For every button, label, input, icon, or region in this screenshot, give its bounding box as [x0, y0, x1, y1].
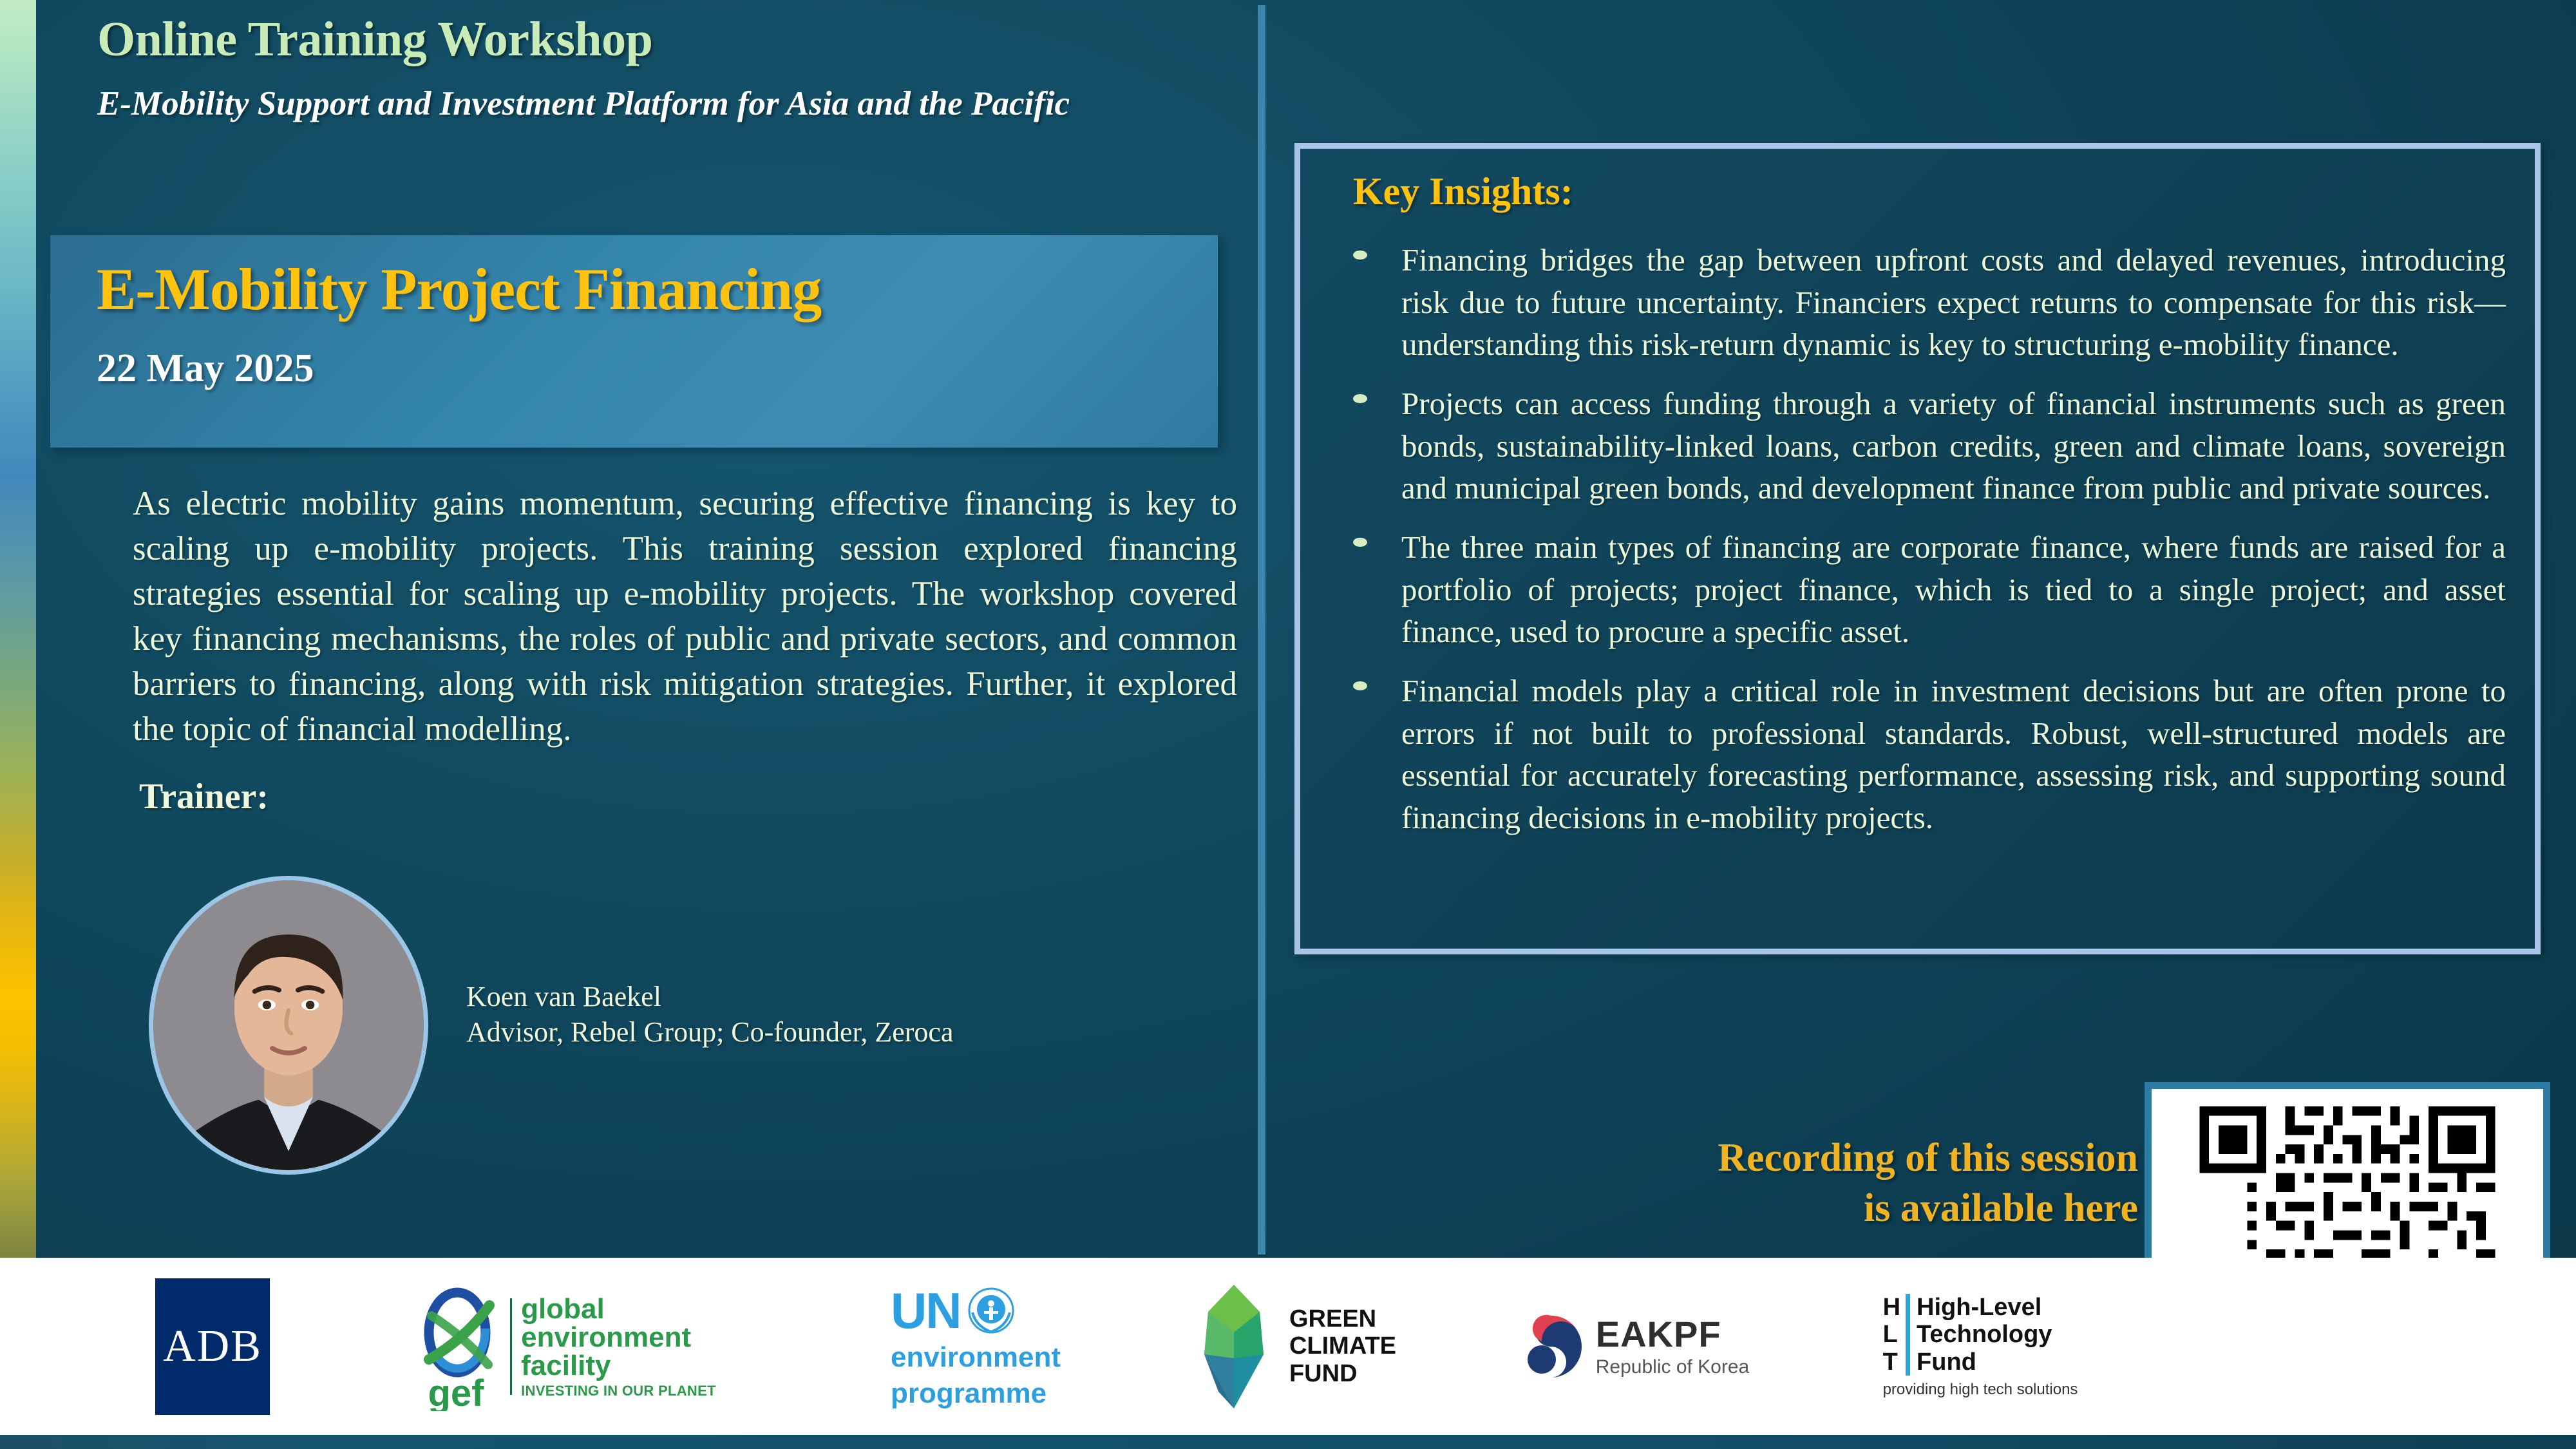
hlt-line-2: Technology — [1917, 1321, 2052, 1349]
trainer-role: Advisor, Rebel Group; Co-founder, Zeroca — [466, 1012, 954, 1052]
eakpf-wordmark: EAKPF Republic of Korea — [1596, 1315, 1749, 1378]
workshop-subtitle: E-Mobility Support and Investment Platfo… — [97, 84, 1205, 124]
logo-eakpf: EAKPF Republic of Korea — [1494, 1258, 1771, 1435]
trainer-label: Trainer: — [139, 776, 269, 817]
workshop-kicker: Online Training Workshop — [97, 14, 652, 66]
gef-line-2: environment — [521, 1323, 716, 1352]
unep-line-2: programme — [891, 1379, 1061, 1408]
gef-line-1: global — [521, 1295, 716, 1323]
left-gradient-strip — [0, 0, 36, 1258]
column-divider — [1258, 5, 1265, 1255]
list-item: Financing bridges the gap between upfron… — [1334, 239, 2506, 366]
korea-taeguk-icon — [1516, 1312, 1586, 1381]
partner-logo-bar: ADB gef global environment facility INVE… — [0, 1258, 2576, 1435]
gef-tagline: INVESTING IN OUR PLANET — [521, 1384, 716, 1398]
gef-wordmark: global environment facility INVESTING IN… — [521, 1295, 716, 1398]
recording-callout: Recording of this session is available h… — [1533, 1133, 2138, 1233]
bullet-icon — [1353, 394, 1367, 403]
left-column: Online Training Workshop E-Mobility Supp… — [36, 0, 1258, 1258]
bullet-icon — [1353, 538, 1367, 547]
list-item: Projects can access funding through a va… — [1334, 383, 2506, 509]
list-item: The three main types of financing are co… — [1334, 526, 2506, 653]
logo-gef: gef global environment facility INVESTIN… — [412, 1258, 721, 1435]
hlt-initial-2: L — [1883, 1321, 1900, 1349]
session-description: As electric mobility gains momentum, sec… — [133, 482, 1237, 752]
gcf-line-1: GREEN — [1289, 1305, 1396, 1333]
eakpf-subtitle: Republic of Korea — [1596, 1357, 1749, 1378]
bullet-icon — [1353, 681, 1367, 690]
title-banner: E-Mobility Project Financing 22 May 2025 — [50, 235, 1218, 448]
trainer-name: Koen van Baekel — [466, 977, 661, 1017]
gcf-wordmark: GREEN CLIMATE FUND — [1289, 1305, 1396, 1388]
un-emblem-icon — [967, 1287, 1015, 1334]
hlt-wordmark: High-Level Technology Fund — [1917, 1294, 2052, 1376]
recording-line-2: is available here — [1864, 1186, 2138, 1230]
hlt-tagline: providing high tech solutions — [1883, 1381, 2078, 1399]
avatar — [149, 876, 428, 1175]
list-item-text: Financing bridges the gap between upfron… — [1401, 242, 2506, 362]
logo-adb: ADB — [116, 1258, 309, 1435]
eakpf-title: EAKPF — [1596, 1315, 1749, 1354]
gcf-line-2: CLIMATE — [1289, 1332, 1396, 1360]
hlt-initial-1: H — [1883, 1294, 1900, 1321]
svg-text:gef: gef — [428, 1372, 485, 1411]
bottom-accent-bar — [0, 1435, 2576, 1449]
session-date: 22 May 2025 — [97, 346, 314, 392]
unep-line-1: environment — [891, 1343, 1061, 1372]
list-item-text: The three main types of financing are co… — [1401, 529, 2506, 649]
logo-unep: UN environment programme — [837, 1258, 1114, 1435]
gcf-line-3: FUND — [1289, 1360, 1396, 1388]
avatar-portrait-icon — [153, 880, 424, 1170]
adb-logo-icon: ADB — [155, 1278, 270, 1415]
gef-line-3: facility — [521, 1352, 716, 1380]
bullet-icon — [1353, 251, 1367, 260]
key-insights-panel: Key Insights: Financing bridges the gap … — [1294, 143, 2541, 954]
key-insights-title: Key Insights: — [1353, 169, 1573, 214]
key-insights-list: Financing bridges the gap between upfron… — [1334, 239, 2506, 856]
logo-gcf: GREEN CLIMATE FUND — [1159, 1258, 1430, 1435]
gef-divider — [510, 1298, 512, 1395]
list-item-text: Financial models play a critical role in… — [1401, 673, 2506, 835]
hlt-initial-3: T — [1883, 1349, 1900, 1376]
slide-canvas: Online Training Workshop E-Mobility Supp… — [0, 0, 2576, 1449]
unep-un-text: UN — [891, 1285, 961, 1336]
recording-line-1: Recording of this session — [1718, 1136, 2138, 1180]
hlt-divider-icon — [1906, 1294, 1910, 1376]
hlt-initials: H L T — [1883, 1294, 1900, 1376]
page-title: E-Mobility Project Financing — [97, 260, 821, 319]
gcf-mark-icon — [1193, 1282, 1275, 1411]
list-item: Financial models play a critical role in… — [1334, 670, 2506, 839]
list-item-text: Projects can access funding through a va… — [1401, 386, 2506, 506]
logo-hlt: H L T High-Level Technology Fund providi… — [1835, 1258, 2125, 1435]
gef-mark-icon: gef — [417, 1282, 501, 1411]
hlt-line-3: Fund — [1917, 1349, 2052, 1376]
adb-logo-text: ADB — [163, 1324, 262, 1369]
hlt-line-1: High-Level — [1917, 1294, 2052, 1321]
